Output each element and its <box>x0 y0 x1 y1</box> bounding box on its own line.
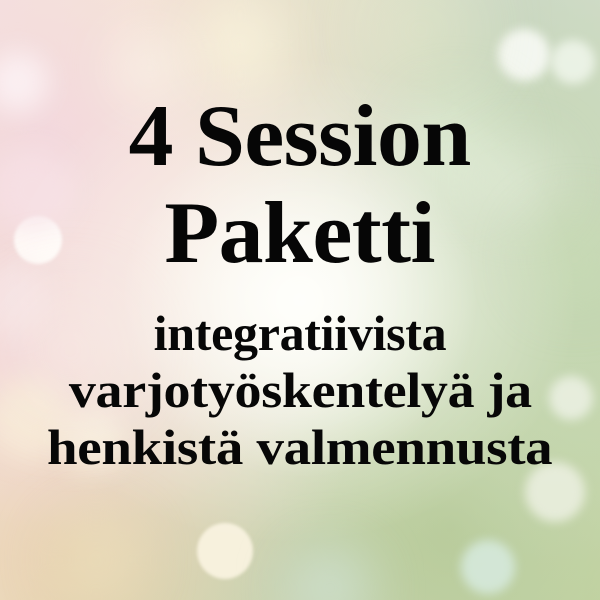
headline-line-1: 4 Session <box>129 88 471 185</box>
subtitle-line-2: varjotyöskentelyä ja <box>69 362 532 419</box>
subtitle-line-1: integratiivista <box>154 305 447 362</box>
subtitle-line-3: henkistä valmennusta <box>47 419 552 476</box>
text-block: 4 Session Paketti integratiivista varjot… <box>0 0 600 600</box>
poster-canvas: 4 Session Paketti integratiivista varjot… <box>0 0 600 600</box>
headline-line-2: Paketti <box>165 185 436 282</box>
